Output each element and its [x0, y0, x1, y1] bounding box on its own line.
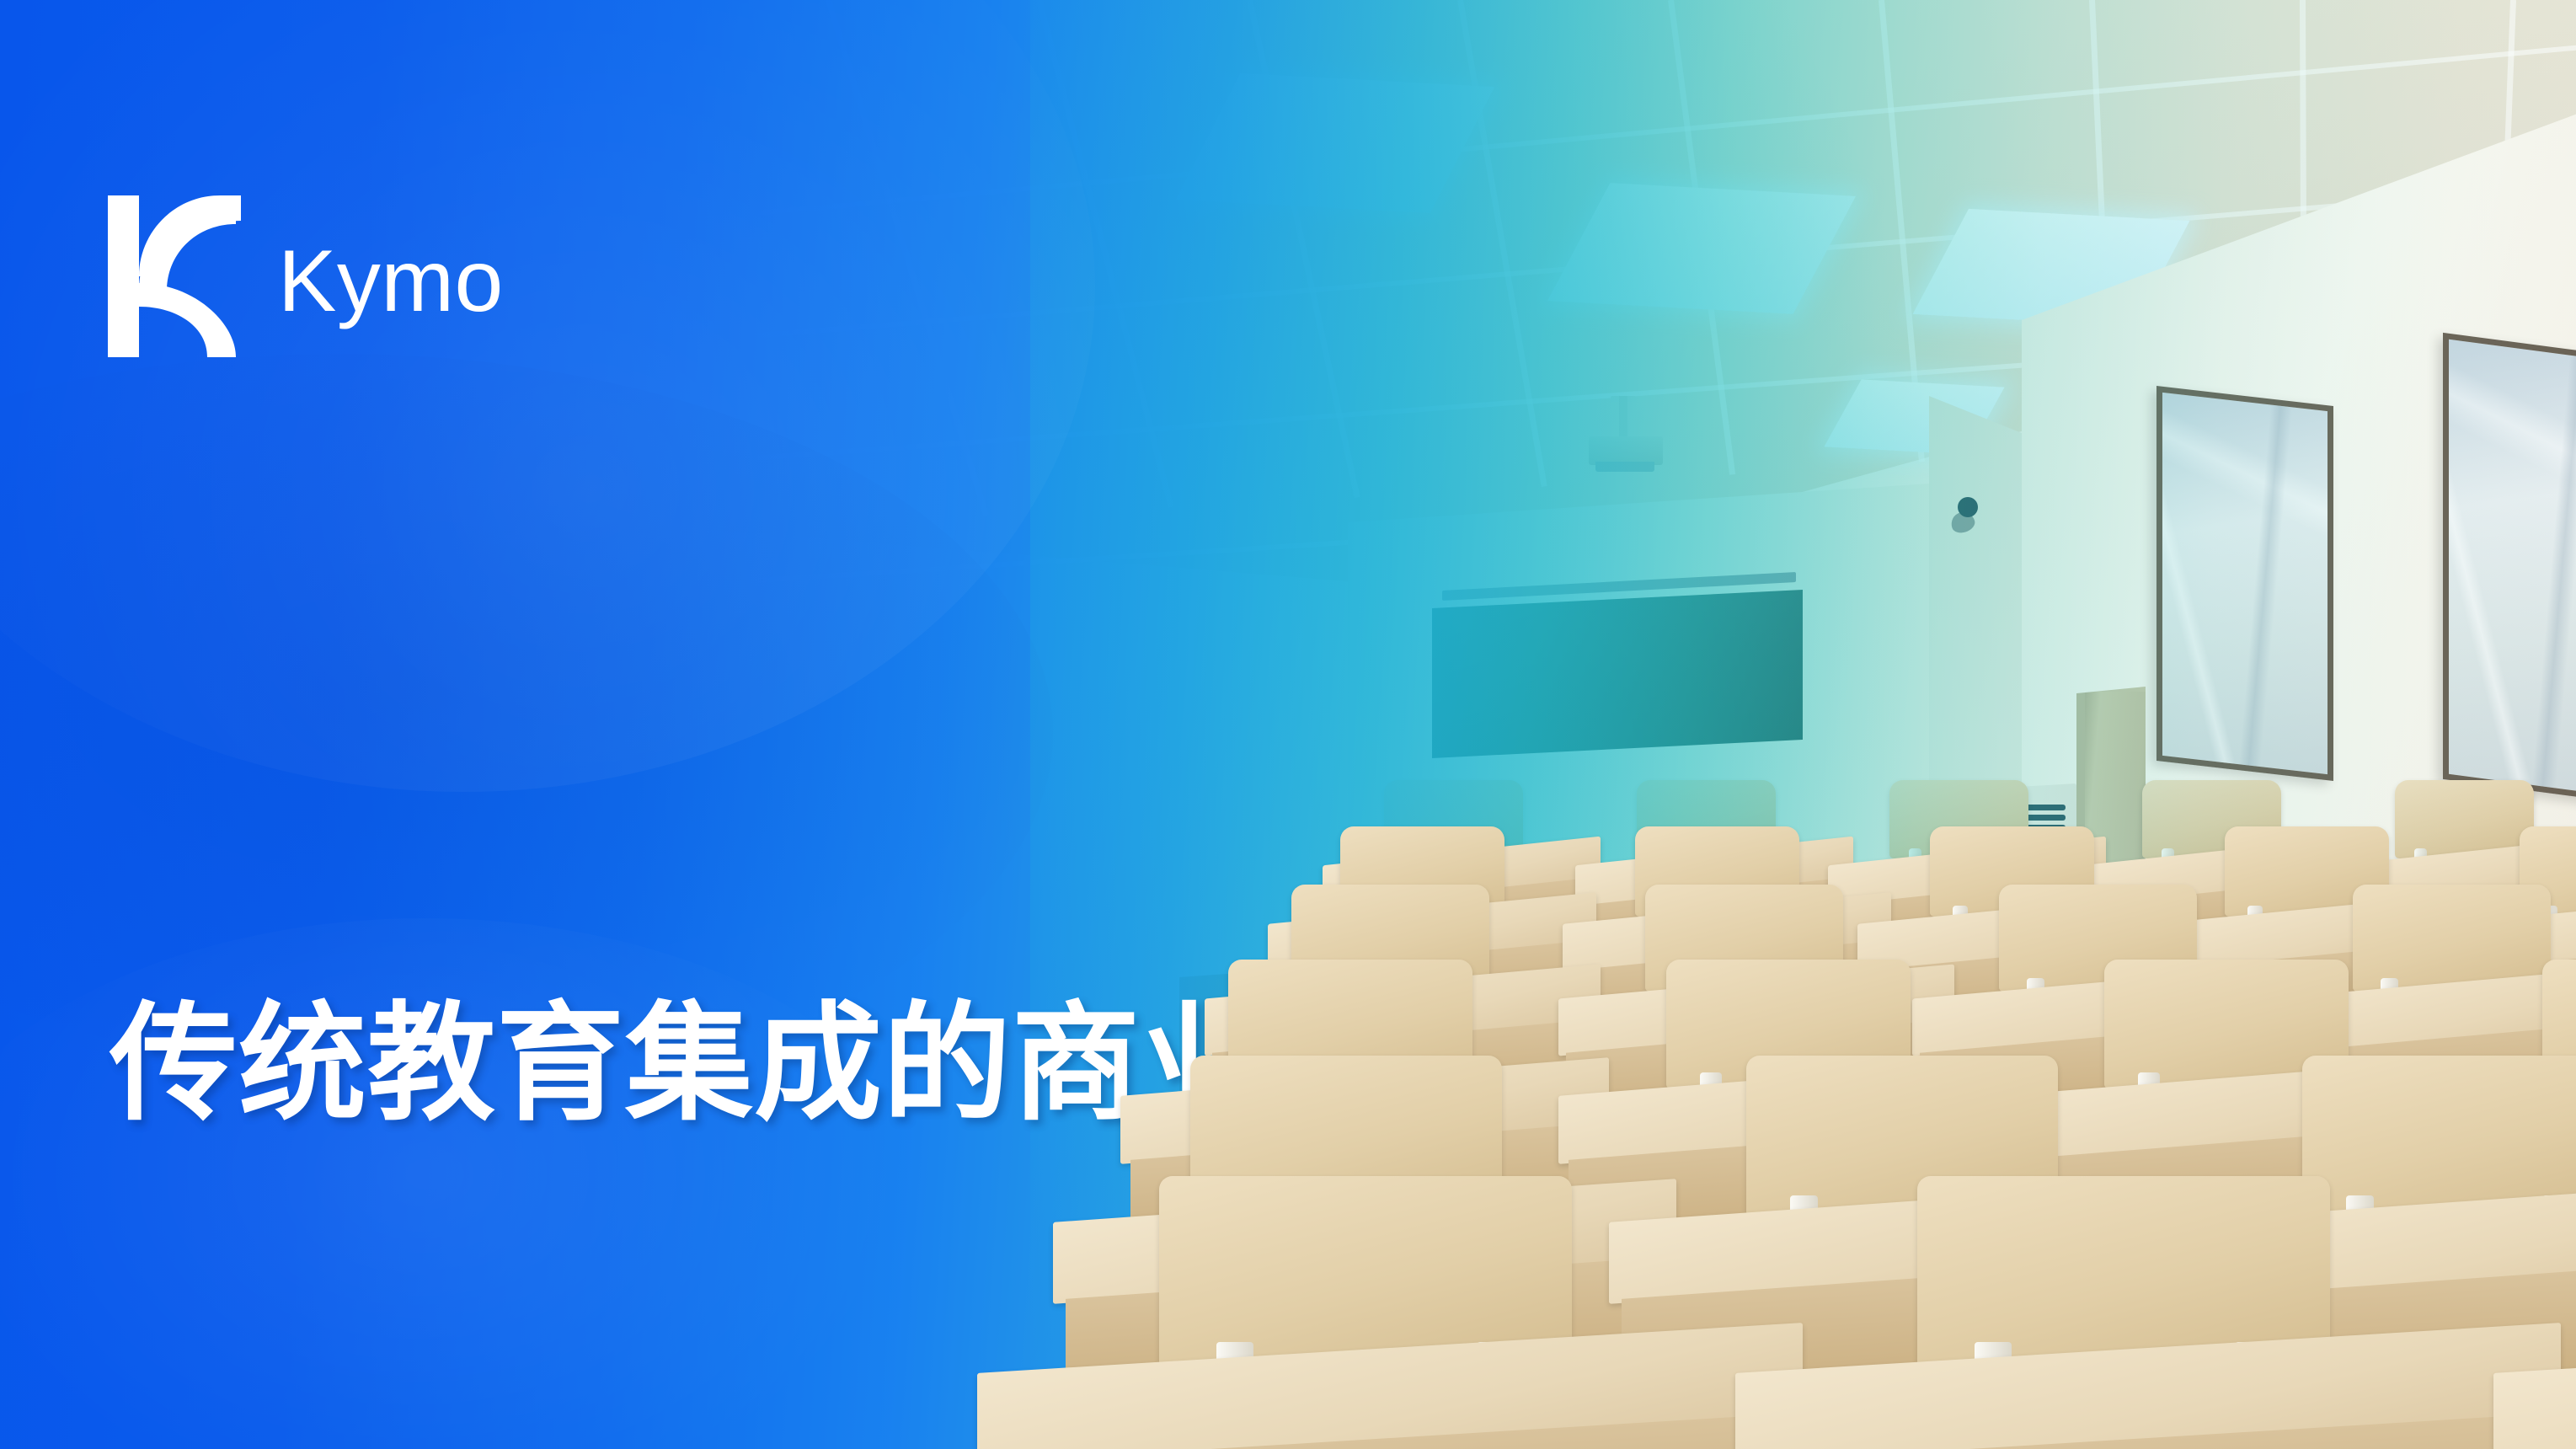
- banner-canvas: Kymo 传统教育集成的商业模式死局 被一个AI破了！: [0, 0, 2576, 1449]
- brand-logo-lockup[interactable]: Kymo: [108, 195, 504, 357]
- brand-name: Kymo: [278, 238, 504, 325]
- kymo-k-logo-icon: [108, 195, 241, 357]
